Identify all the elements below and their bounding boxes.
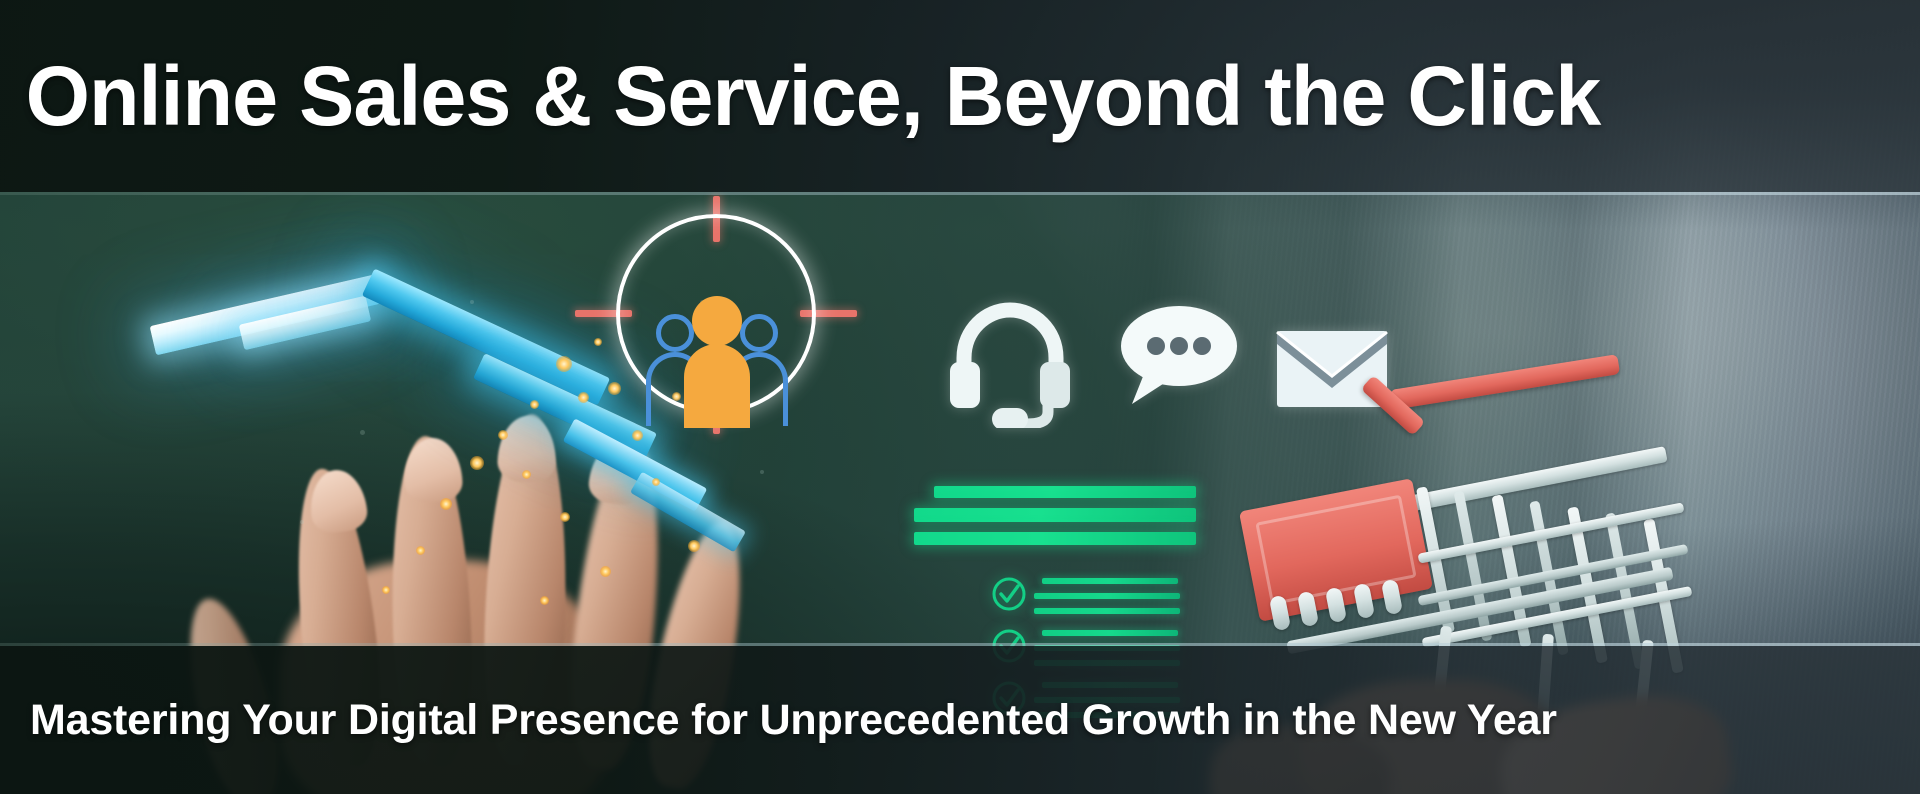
title-band: Online Sales & Service, Beyond the Click bbox=[0, 0, 1920, 192]
page-title: Online Sales & Service, Beyond the Click bbox=[0, 54, 1891, 138]
target-audience-icon bbox=[578, 196, 854, 472]
headset-support-icon bbox=[948, 296, 1072, 428]
subtitle-band-edge bbox=[0, 643, 1920, 646]
check-circle-icon bbox=[991, 576, 1027, 612]
title-band-edge bbox=[0, 192, 1920, 195]
subtitle-band: Mastering Your Digital Presence for Unpr… bbox=[0, 646, 1920, 794]
promotional-banner: Online Sales & Service, Beyond the Click… bbox=[0, 0, 1920, 794]
chat-bubble-icon bbox=[1118, 296, 1240, 412]
page-subtitle: Mastering Your Digital Presence for Unpr… bbox=[0, 699, 1920, 742]
